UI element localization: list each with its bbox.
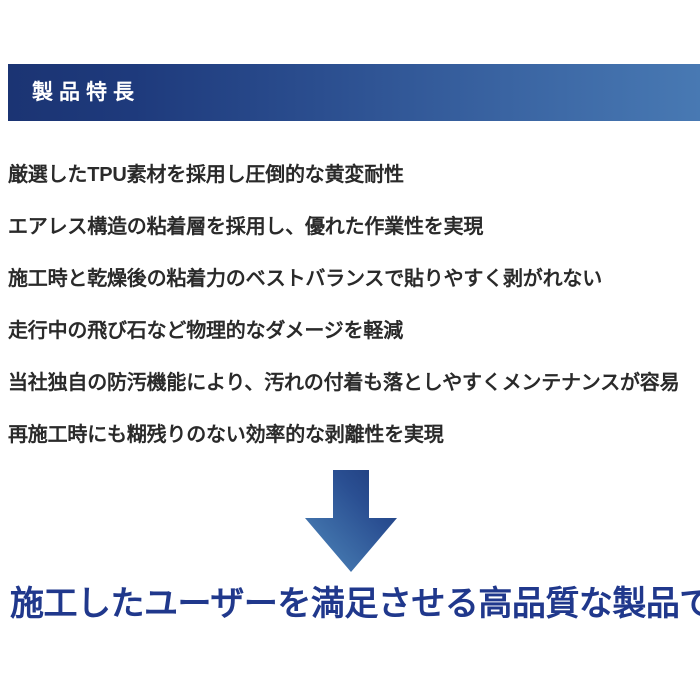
section-header-banner: 製品特長 bbox=[8, 64, 700, 121]
feature-item-label: 施工時と乾燥後の粘着力のベストバランスで貼りやすく剥がれない bbox=[8, 262, 602, 291]
arrow-down-shape bbox=[305, 470, 397, 572]
arrow-down-icon bbox=[305, 470, 397, 572]
conclusion-headline: 施工したユーザーを満足させる高品質な製品です bbox=[10, 585, 700, 624]
feature-item-label: 走行中の飛び石など物理的なダメージを軽減 bbox=[8, 314, 403, 343]
feature-item: エアレス構造の粘着層を採用し、優れた作業性を実現 bbox=[8, 198, 698, 250]
feature-item: 厳選したTPU素材を採用し圧倒的な黄変耐性 bbox=[8, 146, 698, 198]
feature-item: 当社独自の防汚機能により、汚れの付着も落としやすくメンテナンスが容易 bbox=[8, 354, 698, 406]
section-title: 製品特長 bbox=[32, 82, 140, 103]
feature-item: 走行中の飛び石など物理的なダメージを軽減 bbox=[8, 302, 698, 354]
feature-item: 施工時と乾燥後の粘着力のベストバランスで貼りやすく剥がれない bbox=[8, 250, 698, 302]
feature-item-label: 当社独自の防汚機能により、汚れの付着も落としやすくメンテナンスが容易 bbox=[8, 366, 679, 395]
product-features-page: 製品特長 厳選したTPU素材を採用し圧倒的な黄変耐性 エアレス構造の粘着層を採用… bbox=[0, 0, 700, 700]
feature-item-label: エアレス構造の粘着層を採用し、優れた作業性を実現 bbox=[8, 210, 483, 239]
feature-item-label: 厳選したTPU素材を採用し圧倒的な黄変耐性 bbox=[8, 158, 404, 187]
feature-item-label: 再施工時にも糊残りのない効率的な剥離性を実現 bbox=[8, 418, 444, 447]
feature-list: 厳選したTPU素材を採用し圧倒的な黄変耐性 エアレス構造の粘着層を採用し、優れた… bbox=[8, 146, 698, 458]
feature-item: 再施工時にも糊残りのない効率的な剥離性を実現 bbox=[8, 406, 698, 458]
